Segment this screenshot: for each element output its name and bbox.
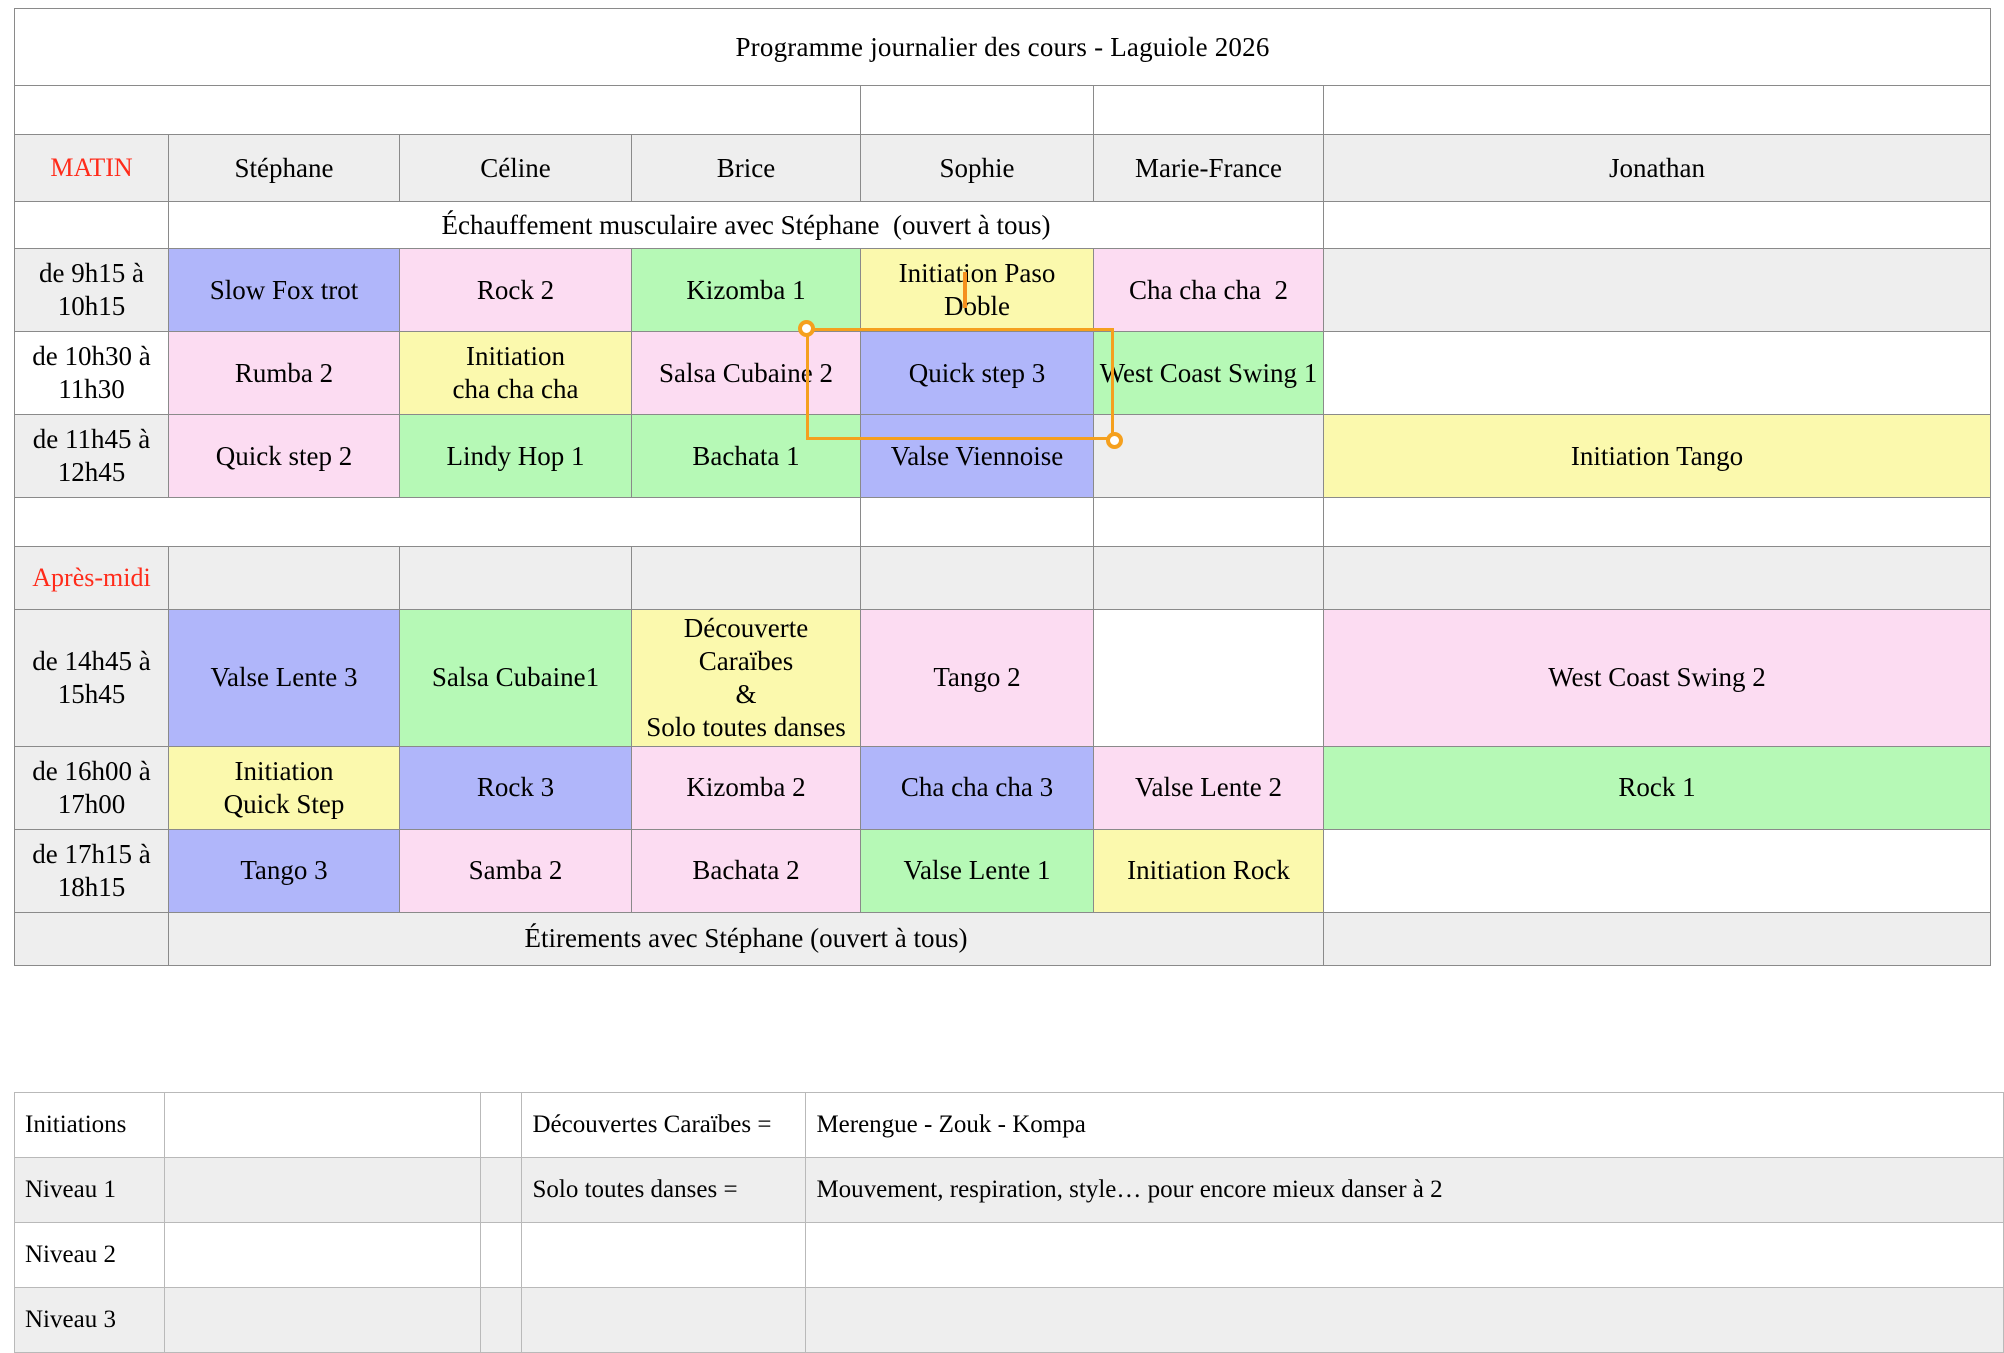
morning-header-row: MATIN Stéphane Céline Brice Sophie Marie…	[15, 135, 1991, 202]
time-label-1030: de 10h30 à 11h30	[15, 332, 169, 415]
spacer-cell-a	[15, 86, 861, 135]
spacer-cell-b	[861, 86, 1094, 135]
spacer-cell-c	[1094, 86, 1324, 135]
class-cell[interactable]: Quick step 2	[169, 415, 400, 498]
legend-swatch-niveau2	[164, 1223, 480, 1288]
stretch-right-pad	[1324, 912, 1991, 965]
class-cell[interactable]: Initiation Rock	[1094, 829, 1324, 912]
legend-table: Initiations Découvertes Caraïbes = Meren…	[14, 1092, 2004, 1353]
spacer-cell-g	[1094, 498, 1324, 547]
afternoon-hdr-blank-4	[861, 547, 1094, 610]
class-cell[interactable]: Slow Fox trot	[169, 249, 400, 332]
legend-definition: Mouvement, respiration, style… pour enco…	[806, 1158, 2004, 1223]
class-cell[interactable]: Valse Viennoise	[861, 415, 1094, 498]
legend-level-name: Niveau 3	[15, 1288, 165, 1353]
legend-definition	[806, 1288, 2004, 1353]
column-header-celine: Céline	[400, 135, 632, 202]
class-cell[interactable]	[1324, 249, 1991, 332]
afternoon-hdr-blank-3	[632, 547, 861, 610]
class-cell[interactable]: Tango 2	[861, 610, 1094, 747]
class-cell[interactable]	[1324, 332, 1991, 415]
legend-divider-strip	[480, 1288, 522, 1353]
class-cell[interactable]: Initiation cha cha cha	[400, 332, 632, 415]
class-cell[interactable]: Rock 1	[1324, 746, 1991, 829]
afternoon-hdr-blank-5	[1094, 547, 1324, 610]
legend-term: Découvertes Caraïbes =	[522, 1093, 806, 1158]
time-label-1715: de 17h15 à 18h15	[15, 829, 169, 912]
legend-term	[522, 1288, 806, 1353]
stretching-banner: Étirements avec Stéphane (ouvert à tous)	[169, 912, 1324, 965]
class-cell[interactable]: Quick step 3	[861, 332, 1094, 415]
class-cell[interactable]: Kizomba 1	[632, 249, 861, 332]
time-label-1145: de 11h45 à 12h45	[15, 415, 169, 498]
warmup-right-pad	[1324, 202, 1991, 249]
class-cell[interactable]: Bachata 1	[632, 415, 861, 498]
class-cell[interactable]: Initiation Quick Step	[169, 746, 400, 829]
spacer-cell-f	[861, 498, 1094, 547]
class-cell[interactable]: Rock 2	[400, 249, 632, 332]
legend-level-name: Initiations	[15, 1093, 165, 1158]
column-header-stephane: Stéphane	[169, 135, 400, 202]
class-cell[interactable]: Cha cha cha 3	[861, 746, 1094, 829]
legend-swatch-initiations	[164, 1093, 480, 1158]
stretching-row: Étirements avec Stéphane (ouvert à tous)	[15, 912, 1991, 965]
class-cell[interactable]: Lindy Hop 1	[400, 415, 632, 498]
time-label-1600: de 16h00 à 17h00	[15, 746, 169, 829]
class-cell[interactable]: Tango 3	[169, 829, 400, 912]
legend-term: Solo toutes danses =	[522, 1158, 806, 1223]
class-cell[interactable]: Initiation Tango	[1324, 415, 1991, 498]
legend-term	[522, 1223, 806, 1288]
afternoon-header-row: Après-midi	[15, 547, 1991, 610]
spacer-row-middle	[15, 498, 1991, 547]
class-cell[interactable]	[1324, 829, 1991, 912]
selection-handle-top-left[interactable]	[798, 320, 815, 337]
class-cell[interactable]	[1094, 415, 1324, 498]
class-cell-selected[interactable]: Salsa Cubaine 2	[632, 332, 861, 415]
time-label-1445: de 14h45 à 15h45	[15, 610, 169, 747]
class-cell[interactable]: Découverte Caraïbes & Solo toutes danses	[632, 610, 861, 747]
legend-row-niveau3: Niveau 3	[15, 1288, 2004, 1353]
selection-handle-bottom-right[interactable]	[1106, 432, 1123, 449]
spacer-row-top	[15, 86, 1991, 135]
class-cell[interactable]: Salsa Cubaine1	[400, 610, 632, 747]
afternoon-hdr-blank-1	[169, 547, 400, 610]
class-cell[interactable]: Valse Lente 2	[1094, 746, 1324, 829]
legend-row-niveau2: Niveau 2	[15, 1223, 2004, 1288]
column-header-marie-france: Marie-France	[1094, 135, 1324, 202]
afternoon-hdr-blank-6	[1324, 547, 1991, 610]
text-cursor-caret	[963, 272, 967, 308]
slot-row-1030: de 10h30 à 11h30 Rumba 2 Initiation cha …	[15, 332, 1991, 415]
afternoon-hdr-blank-2	[400, 547, 632, 610]
warmup-row: Échauffement musculaire avec Stéphane (o…	[15, 202, 1991, 249]
section-label-afternoon: Après-midi	[15, 547, 169, 610]
legend-definition	[806, 1223, 2004, 1288]
section-label-morning: MATIN	[15, 135, 169, 202]
legend-swatch-niveau3	[164, 1288, 480, 1353]
column-header-jonathan: Jonathan	[1324, 135, 1991, 202]
class-cell[interactable]: Samba 2	[400, 829, 632, 912]
legend-row-niveau1: Niveau 1 Solo toutes danses = Mouvement,…	[15, 1158, 2004, 1223]
spreadsheet-canvas: Programme journalier des cours - Laguiol…	[0, 0, 2004, 1312]
legend-divider-strip	[480, 1093, 522, 1158]
time-label-0915: de 9h15 à 10h15	[15, 249, 169, 332]
class-cell[interactable]: Initiation Paso Doble	[861, 249, 1094, 332]
legend-divider-strip	[480, 1223, 522, 1288]
column-header-brice: Brice	[632, 135, 861, 202]
legend-level-name: Niveau 1	[15, 1158, 165, 1223]
class-cell[interactable]: Bachata 2	[632, 829, 861, 912]
warmup-left-pad	[15, 202, 169, 249]
spacer-cell-e	[15, 498, 861, 547]
slot-row-1715: de 17h15 à 18h15 Tango 3 Samba 2 Bachata…	[15, 829, 1991, 912]
class-cell[interactable]: Cha cha cha 2	[1094, 249, 1324, 332]
legend-row-initiations: Initiations Découvertes Caraïbes = Meren…	[15, 1093, 2004, 1158]
column-header-sophie: Sophie	[861, 135, 1094, 202]
class-cell[interactable]: Rumba 2	[169, 332, 400, 415]
legend-divider-strip	[480, 1158, 522, 1223]
legend-level-name: Niveau 2	[15, 1223, 165, 1288]
slot-row-0915: de 9h15 à 10h15 Slow Fox trot Rock 2 Kiz…	[15, 249, 1991, 332]
slot-row-1445: de 14h45 à 15h45 Valse Lente 3 Salsa Cub…	[15, 610, 1991, 747]
class-cell[interactable]: Rock 3	[400, 746, 632, 829]
spacer-cell-h	[1324, 498, 1991, 547]
class-cell[interactable]: Valse Lente 1	[861, 829, 1094, 912]
slot-row-1600: de 16h00 à 17h00 Initiation Quick Step R…	[15, 746, 1991, 829]
program-table: Programme journalier des cours - Laguiol…	[14, 8, 1991, 966]
title-row: Programme journalier des cours - Laguiol…	[15, 9, 1991, 86]
class-cell[interactable]: West Coast Swing 1	[1094, 332, 1324, 415]
spacer-cell-d	[1324, 86, 1991, 135]
class-cell[interactable]: West Coast Swing 2	[1324, 610, 1991, 747]
class-cell[interactable]: Kizomba 2	[632, 746, 861, 829]
class-cell[interactable]: Valse Lente 3	[169, 610, 400, 747]
page-title: Programme journalier des cours - Laguiol…	[15, 9, 1991, 86]
stretch-left-pad	[15, 912, 169, 965]
class-cell[interactable]	[1094, 610, 1324, 747]
warmup-banner: Échauffement musculaire avec Stéphane (o…	[169, 202, 1324, 249]
slot-row-1145: de 11h45 à 12h45 Quick step 2 Lindy Hop …	[15, 415, 1991, 498]
legend-swatch-niveau1	[164, 1158, 480, 1223]
legend-definition: Merengue - Zouk - Kompa	[806, 1093, 2004, 1158]
